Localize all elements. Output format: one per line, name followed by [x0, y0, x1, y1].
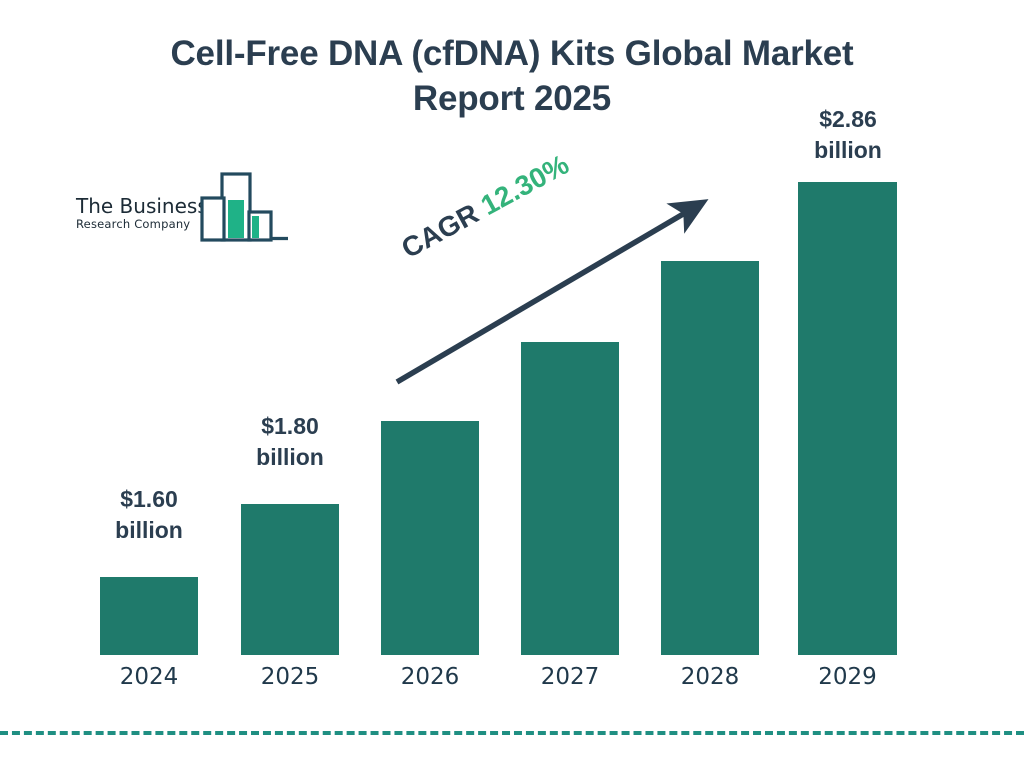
- x-axis-tick-2029: 2029: [798, 664, 897, 690]
- bar-2027: [521, 342, 619, 655]
- bar-value-label-2029: $2.86 billion: [784, 104, 912, 167]
- bar-value-amount-2025: $1.80: [261, 413, 319, 439]
- x-axis-tick-2026: 2026: [381, 664, 479, 690]
- bar-2026: [381, 421, 479, 655]
- bar-value-unit-2029: billion: [814, 137, 882, 163]
- bar-2028: [661, 261, 759, 655]
- x-axis-tick-2025: 2025: [241, 664, 339, 690]
- bar-value-amount-2029: $2.86: [819, 106, 877, 132]
- x-axis-tick-2027: 2027: [521, 664, 619, 690]
- bar-value-label-2025: $1.80 billion: [226, 411, 354, 474]
- chart-canvas: Cell-Free DNA (cfDNA) Kits Global Market…: [0, 0, 1024, 768]
- x-axis-tick-2028: 2028: [661, 664, 759, 690]
- bottom-divider: [0, 731, 1024, 735]
- bar-2029: [798, 182, 897, 655]
- bar-2024: [100, 577, 198, 655]
- bar-value-label-2024: $1.60 billion: [85, 484, 213, 547]
- bar-2025: [241, 504, 339, 655]
- bar-value-unit-2024: billion: [115, 517, 183, 543]
- bar-value-amount-2024: $1.60: [120, 486, 178, 512]
- bar-value-unit-2025: billion: [256, 444, 324, 470]
- x-axis-tick-2024: 2024: [100, 664, 198, 690]
- bar-chart-plot: $1.60 billion $1.80 billion $2.86 billio…: [0, 0, 1024, 768]
